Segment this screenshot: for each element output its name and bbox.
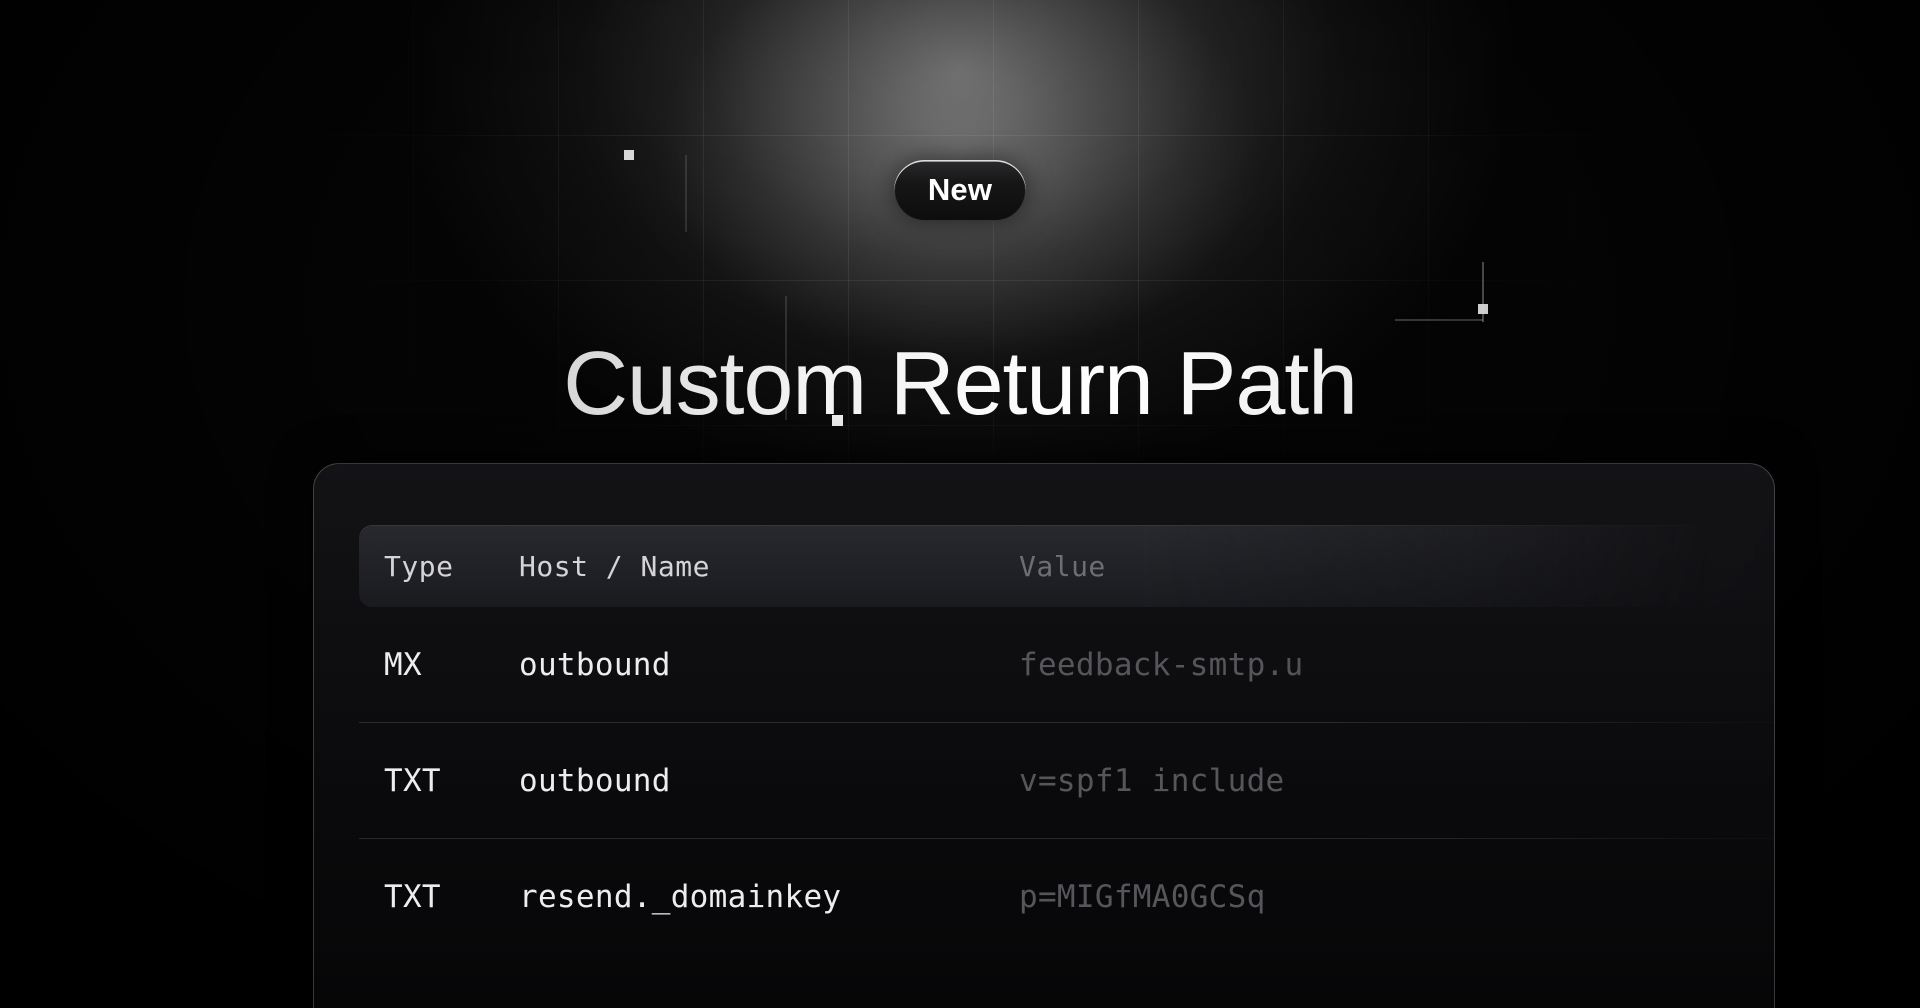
- new-badge: New: [894, 160, 1026, 221]
- cell-record-type: MX: [359, 647, 519, 683]
- table-row[interactable]: TXT resend._domainkey p=MIGfMA0GCSq: [359, 838, 1775, 954]
- cell-record-type: TXT: [359, 879, 519, 915]
- cell-record-value: feedback-smtp.u: [1019, 647, 1775, 683]
- cell-record-type: TXT: [359, 763, 519, 799]
- column-header-type: Type: [359, 550, 519, 583]
- badge-container: New: [0, 160, 1920, 221]
- table-header-row: Type Host / Name Value: [359, 525, 1775, 607]
- promo-graphic: New Custom Return Path Type Host / Name …: [0, 0, 1920, 1008]
- cell-record-value: p=MIGfMA0GCSq: [1019, 879, 1775, 915]
- table-row[interactable]: TXT outbound v=spf1 include: [359, 722, 1775, 838]
- page-title: Custom Return Path: [0, 336, 1920, 433]
- cell-record-value: v=spf1 include: [1019, 763, 1775, 799]
- dns-records-card-inner: Type Host / Name Value MX outbound feedb…: [314, 464, 1774, 1008]
- column-header-host: Host / Name: [519, 550, 1019, 583]
- cell-record-host: outbound: [519, 763, 1019, 799]
- dns-records-card: Type Host / Name Value MX outbound feedb…: [313, 463, 1775, 1008]
- table-row[interactable]: MX outbound feedback-smtp.u: [359, 607, 1775, 722]
- cell-record-host: outbound: [519, 647, 1019, 683]
- dns-records-table: Type Host / Name Value MX outbound feedb…: [359, 525, 1775, 954]
- column-header-value: Value: [1019, 550, 1775, 583]
- cell-record-host: resend._domainkey: [519, 879, 1019, 915]
